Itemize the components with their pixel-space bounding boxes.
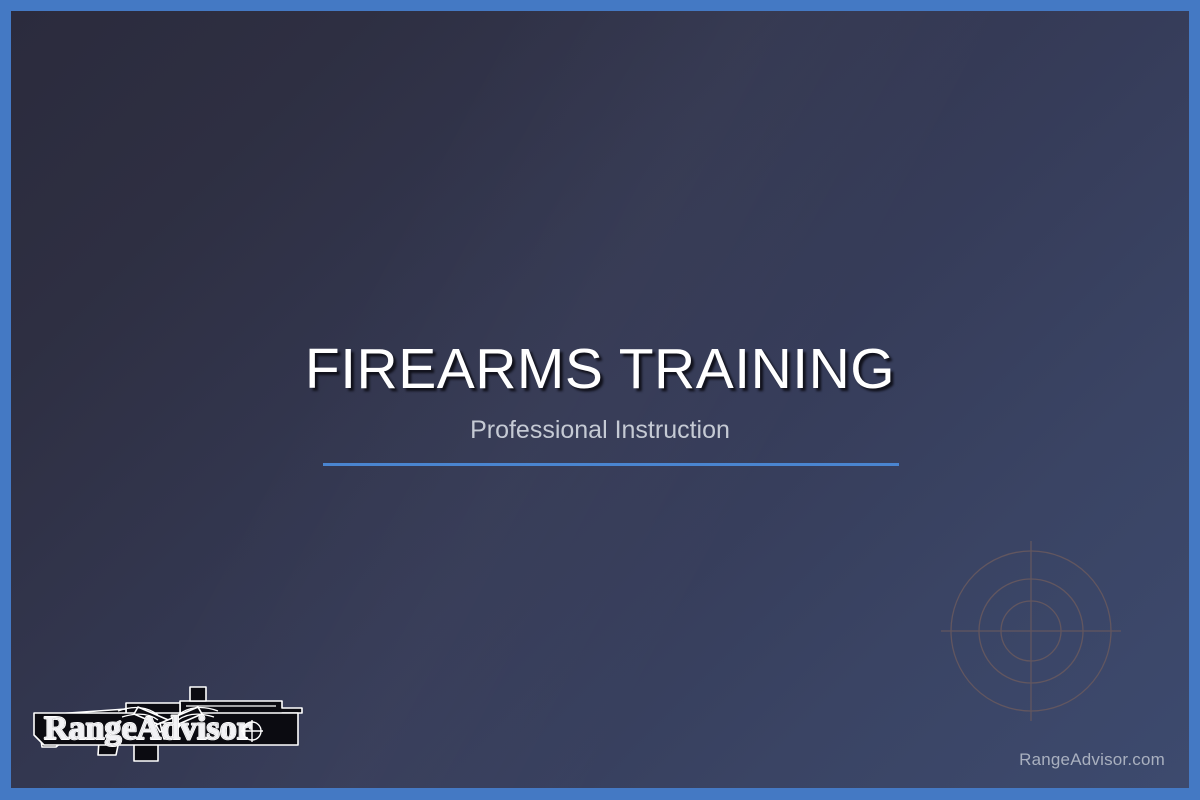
crosshair-target-icon: [941, 541, 1121, 721]
page-title: FIREARMS TRAINING: [11, 341, 1189, 398]
accent-divider-line: [323, 463, 899, 466]
rifle-logo-icon: .lg-fill { fill:#0b0b11; stroke:#ffffff;…: [30, 675, 310, 767]
footer-site-label: RangeAdvisor.com: [1019, 750, 1165, 770]
slide-canvas: FIREARMS TRAINING Professional Instructi…: [11, 11, 1189, 788]
presentation-slide: FIREARMS TRAINING Professional Instructi…: [0, 0, 1200, 800]
page-subtitle: Professional Instruction: [11, 398, 1189, 443]
svg-text:RangeAdvisor: RangeAdvisor: [44, 710, 252, 747]
title-block: FIREARMS TRAINING Professional Instructi…: [11, 341, 1189, 443]
